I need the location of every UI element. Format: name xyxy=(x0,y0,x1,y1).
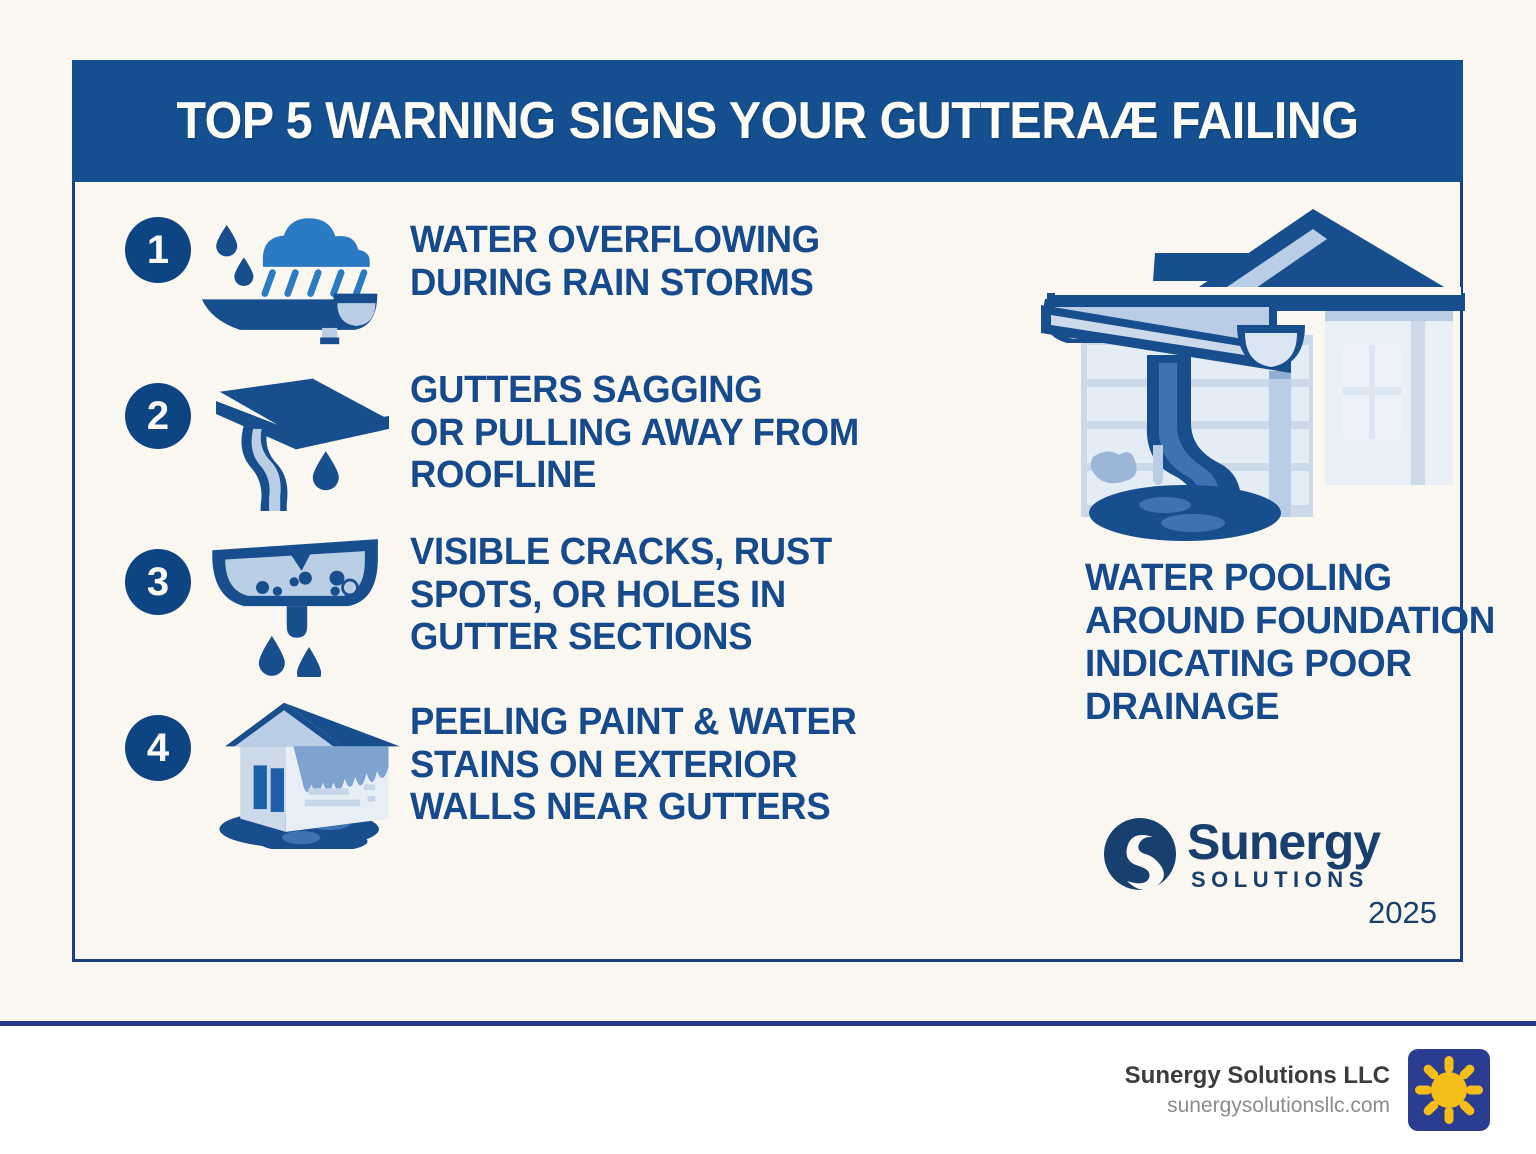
infographic-canvas: TOP 5 WARNING SIGNS YOUR GUTTERAÆ FAILIN… xyxy=(0,0,1536,1024)
list-item-line: STAINS ON EXTERIOR xyxy=(410,744,991,787)
infographic-page: TOP 5 WARNING SIGNS YOUR GUTTERAÆ FAILIN… xyxy=(0,0,1536,1154)
brand-logo: Sunergy SOLUTIONS xyxy=(1103,817,1380,891)
list-item-number-badge: 3 xyxy=(125,549,191,615)
sun-icon xyxy=(1408,1049,1490,1131)
sunergy-swirl-logo-icon xyxy=(1103,817,1177,891)
footer-company-name: Sunergy Solutions LLC xyxy=(1125,1060,1390,1092)
footer-website-url[interactable]: sunergysolutionsllc.com xyxy=(1125,1092,1390,1120)
list-item-line: WALLS NEAR GUTTERS xyxy=(410,786,991,829)
warning-signs-list: 1 xyxy=(125,195,1015,859)
list-item-number-badge: 4 xyxy=(125,715,191,781)
sagging-gutter-roofline-icon xyxy=(195,361,410,521)
footer-text-block: Sunergy Solutions LLC sunergysolutionsll… xyxy=(1125,1060,1390,1121)
list-item: 2 xyxy=(125,361,1015,521)
header-band: TOP 5 WARNING SIGNS YOUR GUTTERAÆ FAILIN… xyxy=(72,60,1463,182)
feature-line: DRAINAGE xyxy=(1085,686,1454,729)
list-item-text: WATER OVERFLOWING DURING RAIN STORMS xyxy=(410,195,991,304)
page-footer: Sunergy Solutions LLC sunergysolutionsll… xyxy=(0,1026,1536,1154)
list-item-line: GUTTER SECTIONS xyxy=(410,616,991,659)
list-item-number-badge: 1 xyxy=(125,217,191,283)
body-area: 1 xyxy=(75,185,1460,959)
feature-column: WATER POOLING AROUND FOUNDATION INDICATI… xyxy=(1035,185,1460,959)
infographic-card: TOP 5 WARNING SIGNS YOUR GUTTERAÆ FAILIN… xyxy=(72,60,1463,962)
feature-text: WATER POOLING AROUND FOUNDATION INDICATI… xyxy=(1085,557,1454,729)
list-item-line: OR PULLING AWAY FROM xyxy=(410,412,991,455)
list-item-line: VISIBLE CRACKS, RUST xyxy=(410,531,991,574)
list-item-text: PEELING PAINT & WATER STAINS ON EXTERIOR… xyxy=(410,693,991,829)
list-item-line: PEELING PAINT & WATER xyxy=(410,701,991,744)
list-item: 4 xyxy=(125,693,1015,853)
brand-tagline: SOLUTIONS xyxy=(1191,869,1380,891)
list-item-line: ROOFLINE xyxy=(410,454,991,497)
rain-cloud-overflowing-gutter-icon xyxy=(195,195,410,355)
list-item-line: WATER OVERFLOWING xyxy=(410,219,991,262)
house-peeling-paint-water-stains-icon xyxy=(195,693,410,853)
list-item-text: VISIBLE CRACKS, RUST SPOTS, OR HOLES IN … xyxy=(410,527,991,659)
feature-line: WATER POOLING xyxy=(1085,557,1454,600)
page-title: TOP 5 WARNING SIGNS YOUR GUTTERAÆ FAILIN… xyxy=(176,91,1358,151)
brand-name: Sunergy xyxy=(1187,817,1380,867)
feature-line: AROUND FOUNDATION xyxy=(1085,600,1454,643)
cracked-rusty-gutter-dripping-icon xyxy=(195,527,410,687)
list-item-line: GUTTERS SAGGING xyxy=(410,369,991,412)
list-item: 3 xyxy=(125,527,1015,687)
house-downspout-water-pooling-icon xyxy=(1025,195,1485,545)
feature-line: INDICATING POOR xyxy=(1085,643,1454,686)
list-item-line: DURING RAIN STORMS xyxy=(410,262,991,305)
list-item-number-badge: 2 xyxy=(125,383,191,449)
list-item-text: GUTTERS SAGGING OR PULLING AWAY FROM ROO… xyxy=(410,361,991,497)
list-item: 1 xyxy=(125,195,1015,355)
list-item-line: SPOTS, OR HOLES IN xyxy=(410,574,991,617)
year-label: 2025 xyxy=(1368,895,1437,931)
brand-wordmark: Sunergy SOLUTIONS xyxy=(1187,817,1380,891)
